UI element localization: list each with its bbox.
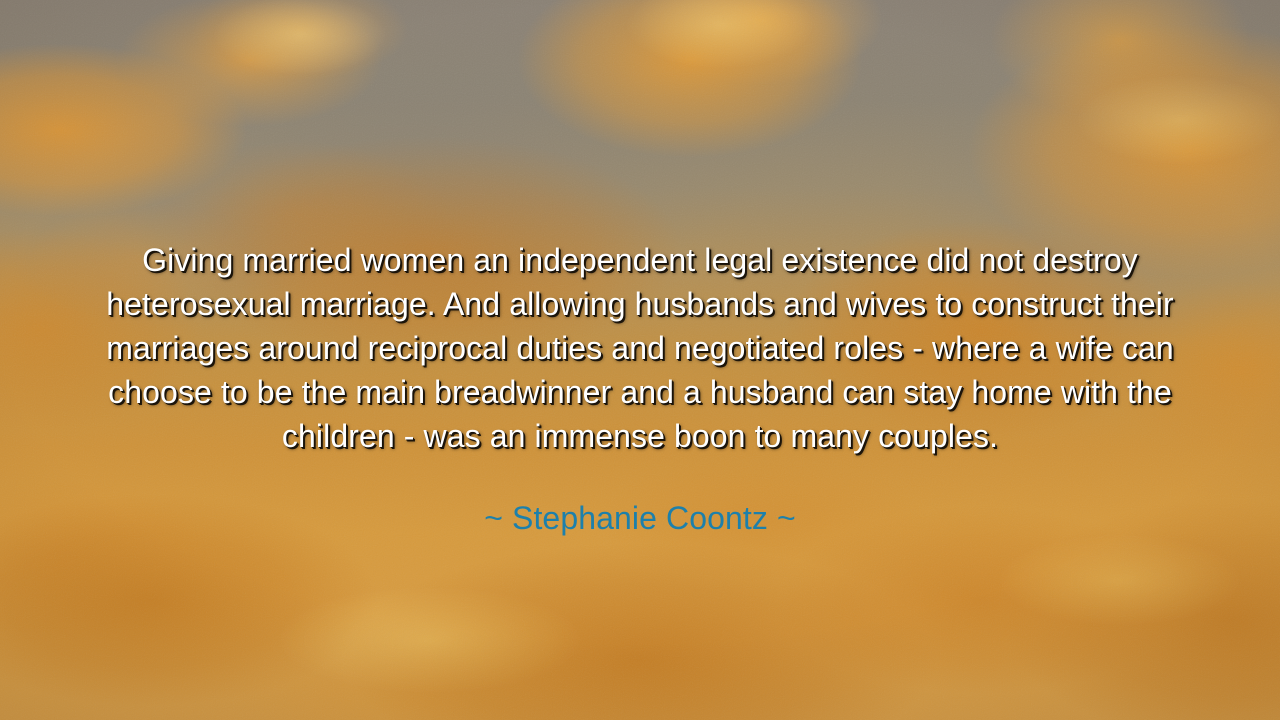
quote-card: Giving married women an independent lega… <box>0 0 1280 720</box>
quote-attribution: ~ Stephanie Coontz ~ <box>84 458 1196 538</box>
quote-text: Giving married women an independent lega… <box>84 238 1196 458</box>
quote-content-block: Giving married women an independent lega… <box>84 238 1196 538</box>
